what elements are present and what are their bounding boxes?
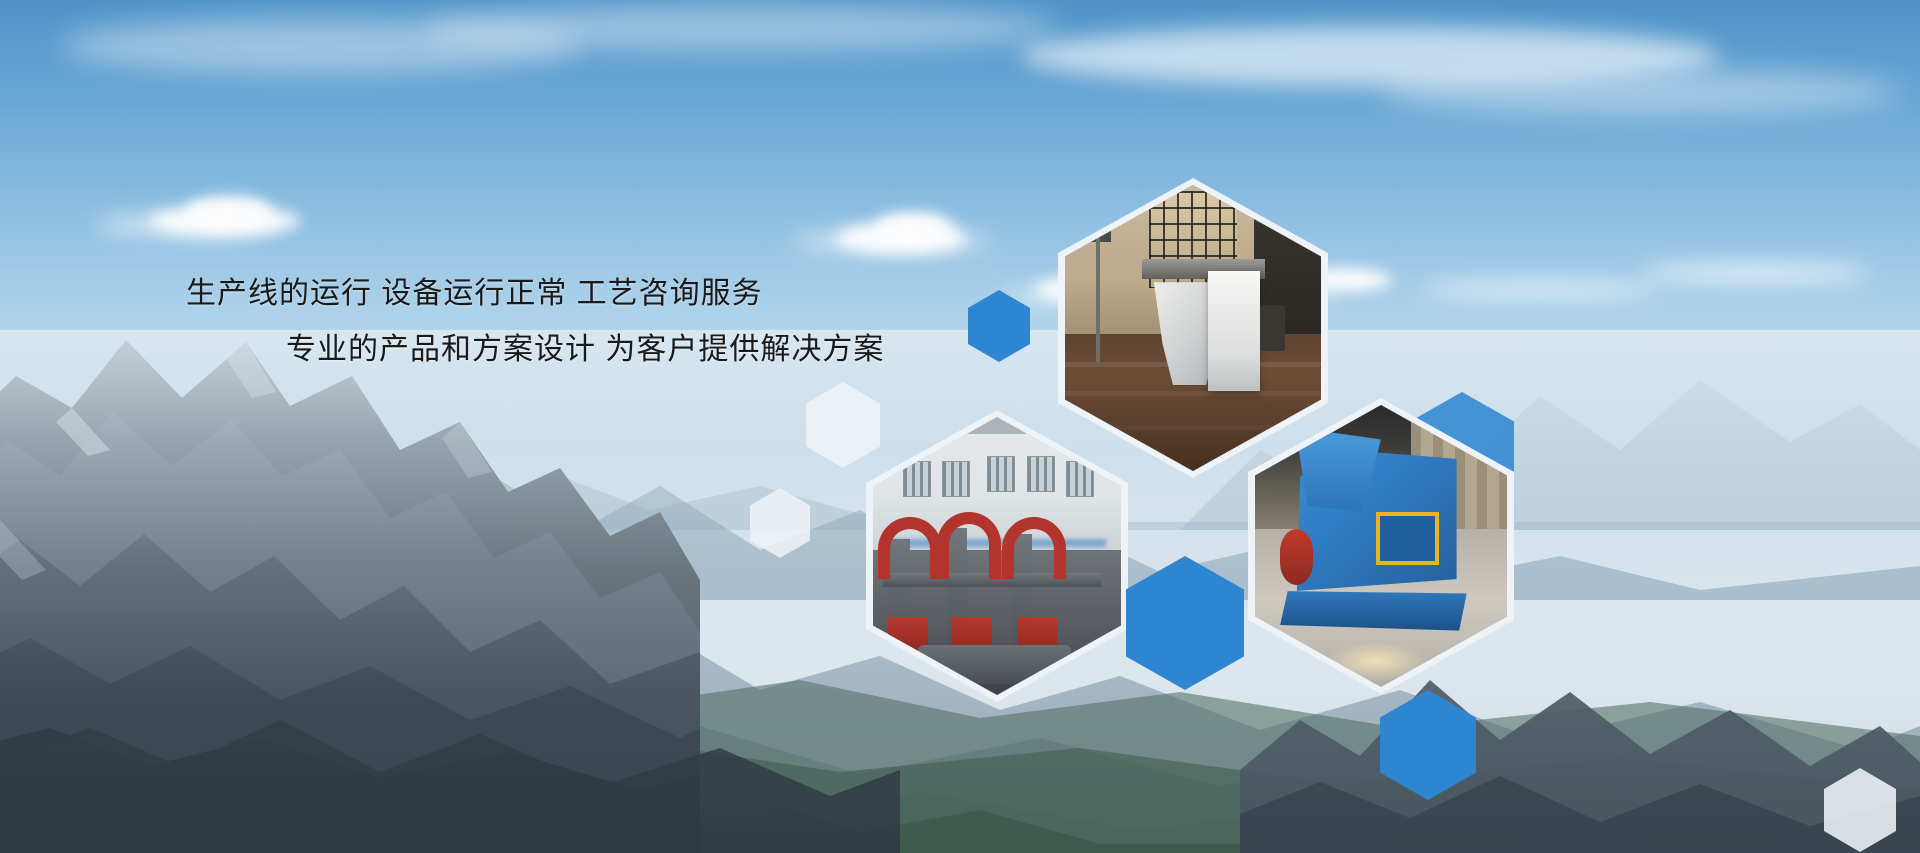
hero-headline: 生产线的运行 设备运行正常 工艺咨询服务 专业的产品和方案设计 为客户提供解决方… bbox=[186, 266, 946, 378]
headline-line-2: 专业的产品和方案设计 为客户提供解决方案 bbox=[186, 322, 946, 378]
photo-hex-plant-image bbox=[873, 417, 1121, 695]
cloud-icon bbox=[1420, 280, 1660, 298]
photo-hex-foundry-image bbox=[1065, 185, 1321, 471]
cloud-icon bbox=[792, 232, 992, 252]
hero-banner: 生产线的运行 设备运行正常 工艺咨询服务 专业的产品和方案设计 为客户提供解决方… bbox=[0, 0, 1920, 853]
cloud-icon bbox=[420, 4, 1060, 52]
photo-hex-shredder-image bbox=[1255, 405, 1507, 687]
cloud-icon bbox=[96, 214, 276, 236]
cloud-icon bbox=[1380, 70, 1900, 114]
cloud-icon bbox=[1640, 262, 1870, 284]
headline-line-1: 生产线的运行 设备运行正常 工艺咨询服务 bbox=[186, 266, 946, 322]
